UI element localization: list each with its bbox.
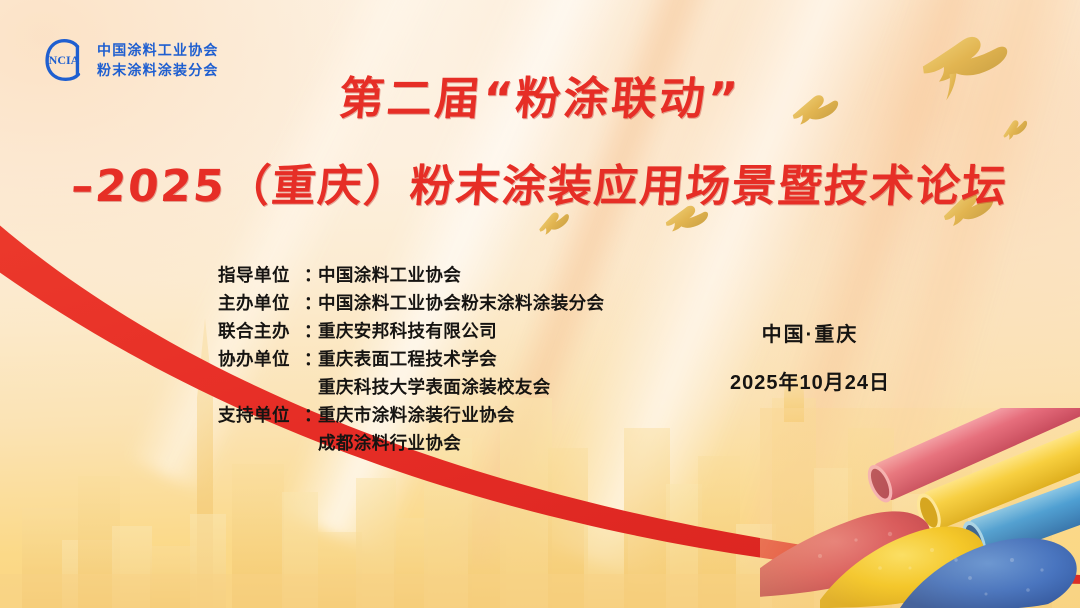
organizer-row: 成都涂料行业协会 (218, 430, 604, 456)
organizer-value: 重庆科技大学表面涂装校友会 (318, 374, 551, 400)
organizer-colon: ： (304, 346, 318, 372)
organizer-row: 联合主办 ： 重庆安邦科技有限公司 (218, 318, 604, 344)
organizer-row: 重庆科技大学表面涂装校友会 (218, 374, 604, 400)
organizer-row: 主办单位 ： 中国涂料工业协会粉末涂料涂装分会 (218, 290, 604, 316)
poster-title-line-2: –2025（重庆）粉末涂装应用场景暨技术论坛 (0, 150, 1080, 214)
organizer-colon: ： (304, 262, 318, 288)
organizer-row: 指导单位 ： 中国涂料工业协会 (218, 262, 604, 288)
organizer-value: 重庆市涂料涂装行业协会 (318, 402, 515, 428)
venue-city: 中国·重庆 (640, 320, 980, 350)
venue-info: 中国·重庆 2025年10月24日 (640, 320, 980, 398)
event-poster: NCIA 中国涂料工业协会 粉末涂料涂装分会 第二届“粉涂联动” –2025（重… (0, 0, 1080, 608)
organizer-label: 协办单位 (218, 346, 304, 372)
organizer-label: 指导单位 (218, 262, 304, 288)
powder-pigment-illustration (760, 408, 1080, 608)
organizer-value: 重庆安邦科技有限公司 (318, 318, 497, 344)
organizer-value: 成都涂料行业协会 (318, 430, 461, 456)
organizer-colon: ： (304, 290, 318, 316)
organizer-row: 协办单位 ： 重庆表面工程技术学会 (218, 346, 604, 372)
organizer-label: 支持单位 (218, 402, 304, 428)
organizer-row: 支持单位 ： 重庆市涂料涂装行业协会 (218, 402, 604, 428)
organizer-colon: ： (304, 318, 318, 344)
poster-title-line-1: 第二届“粉涂联动” (0, 62, 1080, 127)
organizer-value: 中国涂料工业协会 (318, 262, 461, 288)
organizer-label: 主办单位 (218, 290, 304, 316)
organizer-value: 重庆表面工程技术学会 (318, 346, 497, 372)
organizer-list: 指导单位 ： 中国涂料工业协会 主办单位 ： 中国涂料工业协会粉末涂料涂装分会 … (218, 262, 604, 456)
organizer-value: 中国涂料工业协会粉末涂料涂装分会 (318, 290, 604, 316)
organizer-colon: ： (304, 402, 318, 428)
venue-date: 2025年10月24日 (640, 368, 980, 398)
organizer-label: 联合主办 (218, 318, 304, 344)
logo-line-1: 中国涂料工业协会 (97, 42, 219, 58)
